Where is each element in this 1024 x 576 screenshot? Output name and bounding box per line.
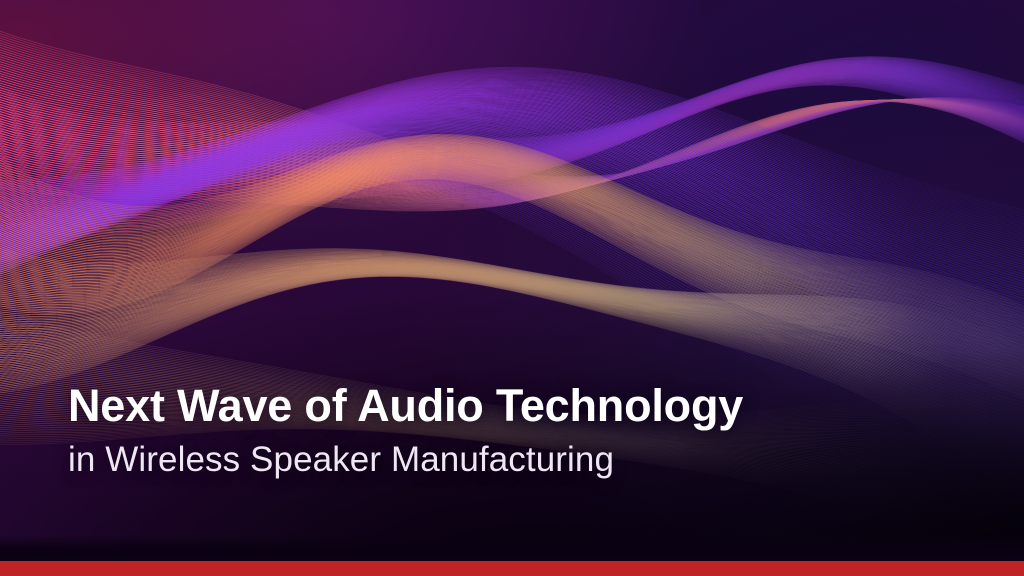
wave-band-violet	[0, 67, 1024, 393]
banner-canvas: Next Wave of Audio Technology in Wireles…	[0, 0, 1024, 576]
page-subtitle: in Wireless Speaker Manufacturing	[68, 441, 743, 480]
bottom-dark-strip	[0, 535, 1024, 561]
wave-field	[0, 0, 1024, 576]
page-title: Next Wave of Audio Technology	[68, 382, 743, 431]
headline-block: Next Wave of Audio Technology in Wireles…	[68, 382, 743, 479]
accent-bar	[0, 561, 1024, 576]
